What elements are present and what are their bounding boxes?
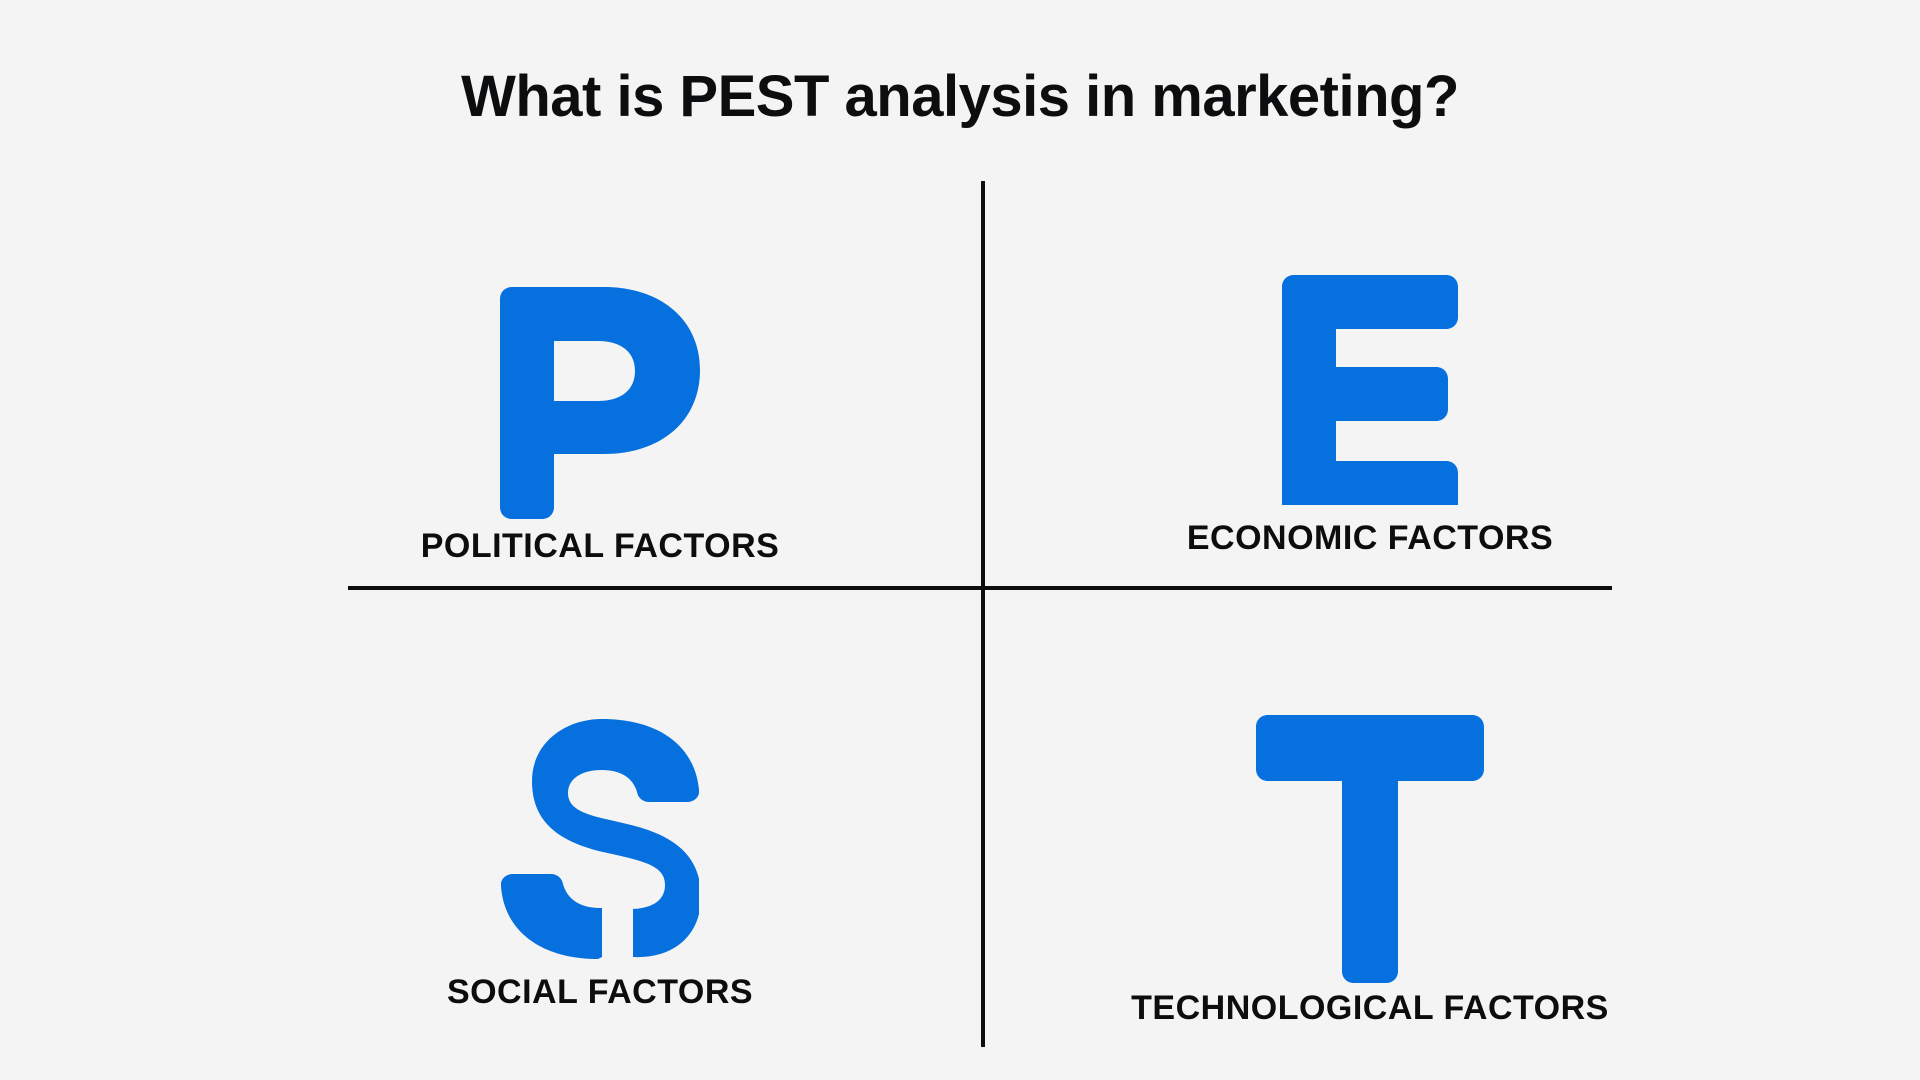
- letter-wrap-political: [230, 150, 970, 527]
- quadrant-economic: ECONOMIC FACTORS: [1000, 150, 1740, 580]
- vertical-divider: [981, 181, 985, 1047]
- letter-t-icon: [1256, 715, 1484, 983]
- quadrant-social: SOCIAL FACTORS: [230, 596, 970, 1036]
- letter-p-icon: [500, 287, 700, 519]
- horizontal-divider: [348, 586, 1612, 590]
- quadrant-label-social: SOCIAL FACTORS: [447, 973, 753, 1012]
- page-title: What is PEST analysis in marketing?: [0, 65, 1920, 129]
- quadrant-label-technological: TECHNOLOGICAL FACTORS: [1131, 989, 1609, 1028]
- pest-analysis-infographic: What is PEST analysis in marketing? POLI…: [0, 0, 1920, 1080]
- quadrant-label-economic: ECONOMIC FACTORS: [1187, 519, 1553, 558]
- quadrant-political: POLITICAL FACTORS: [230, 150, 970, 580]
- letter-s-icon: [501, 719, 699, 959]
- letter-wrap-economic: [1000, 150, 1740, 519]
- quadrant-label-political: POLITICAL FACTORS: [421, 527, 780, 566]
- letter-wrap-technological: [1000, 596, 1740, 989]
- letter-wrap-social: [230, 596, 970, 973]
- letter-e-icon: [1282, 275, 1458, 505]
- quadrant-technological: TECHNOLOGICAL FACTORS: [1000, 596, 1740, 1036]
